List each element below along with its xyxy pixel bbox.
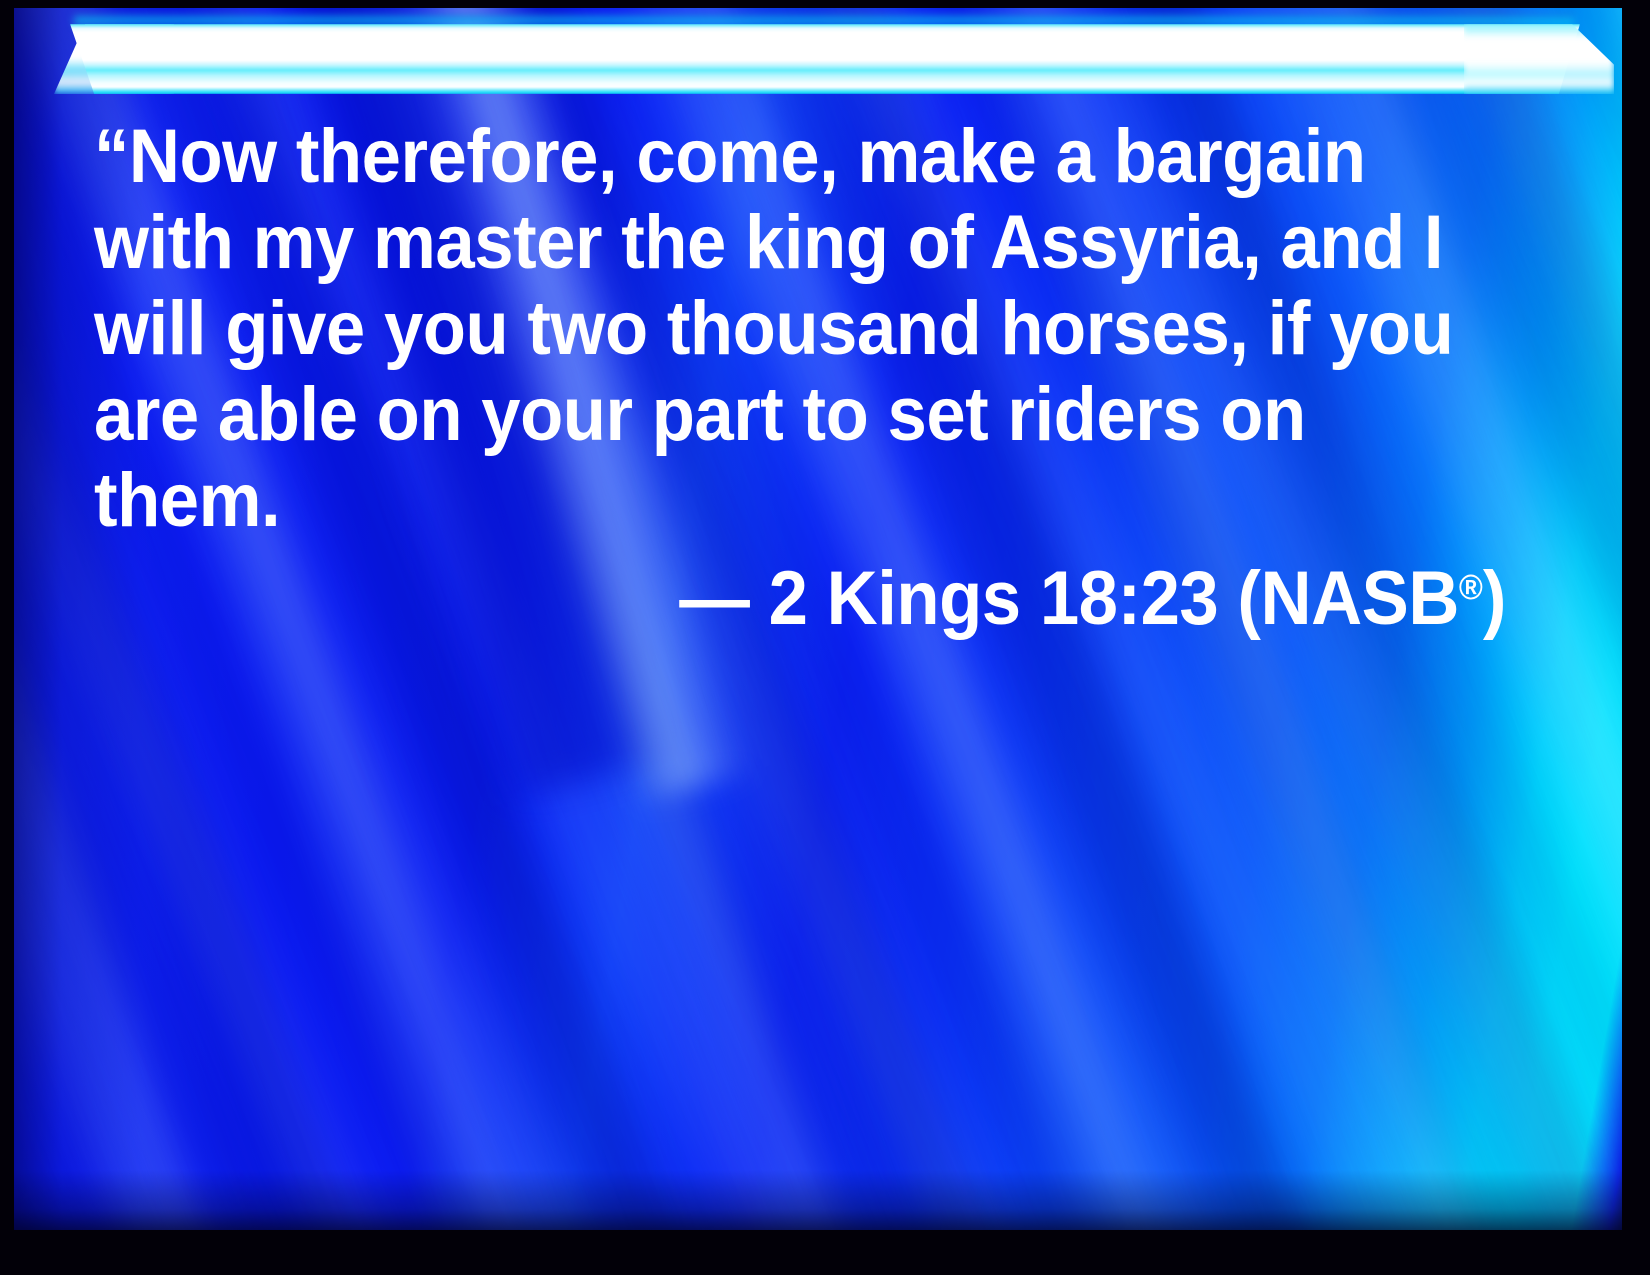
citation-row: — 2 Kings 18:23 (NASB®) (94, 544, 1506, 643)
registered-trademark-icon: ® (1459, 568, 1483, 607)
verse-text-block: “Now therefore, come, make a bargain wit… (94, 114, 1514, 544)
slide-artwork-panel: “Now therefore, come, make a bargain wit… (14, 8, 1622, 1230)
verse-line-3: will give you two thousand horses, if yo… (94, 286, 1415, 372)
top-decorative-band (70, 24, 1580, 94)
verse-line-2: with my master the king of Assyria, and … (94, 200, 1415, 286)
verse-line-5: them. (94, 458, 1415, 544)
scripture-citation: — 2 Kings 18:23 (NASB®) (679, 544, 1506, 643)
background-bottom-shading (14, 1170, 1622, 1230)
verse-line-4: are able on your part to set riders on (94, 372, 1415, 458)
citation-prefix: — 2 Kings 18:23 (NASB (679, 556, 1459, 641)
verse-line-1: “Now therefore, come, make a bargain (94, 114, 1415, 200)
citation-suffix: ) (1483, 556, 1506, 641)
bible-verse-slide: “Now therefore, come, make a bargain wit… (0, 0, 1650, 1275)
